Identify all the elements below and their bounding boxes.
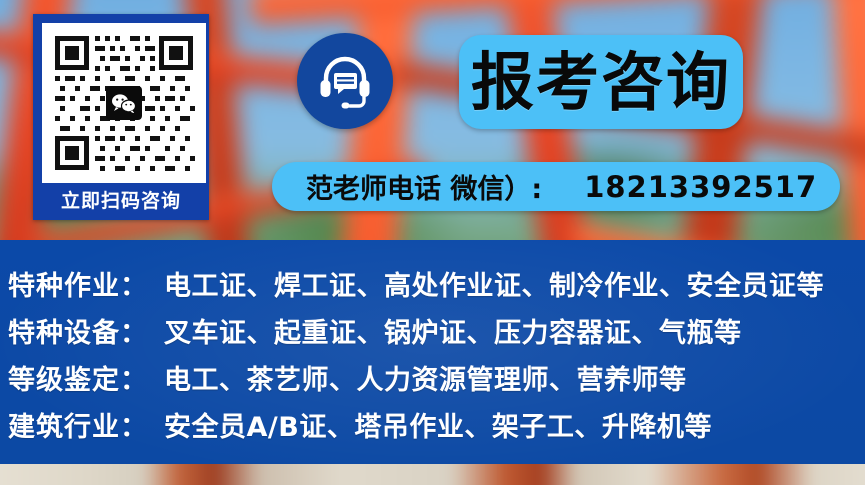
title-badge: 报考咨询: [459, 35, 743, 129]
contact-badge[interactable]: 范老师电话 微信）: 18213392517: [272, 162, 840, 211]
bottom-photo-strip-layer: [0, 464, 865, 485]
service-row-label: 建筑行业：: [8, 405, 148, 444]
service-row-label: 特种作业：: [8, 264, 148, 303]
service-row-label: 特种设备：: [8, 311, 148, 350]
service-row-special-equipment: 特种设备： 叉车证、起重证、锅炉证、压力容器证、气瓶等: [8, 311, 857, 350]
service-row-construction-industry: 建筑行业： 安全员A/B证、塔吊作业、架子工、升降机等: [8, 405, 857, 444]
headset-support-icon: [297, 33, 393, 129]
contact-phone-number[interactable]: 18213392517: [584, 170, 817, 204]
services-panel: 特种作业： 电工证、焊工证、高处作业证、制冷作业、安全员证等 特种设备： 叉车证…: [0, 240, 865, 464]
service-row-items: 叉车证、起重证、锅炉证、压力容器证、气瓶等: [164, 311, 742, 350]
headset-glyph: [314, 50, 376, 112]
wechat-glyph: [111, 93, 137, 113]
service-row-grade-certification: 等级鉴定： 电工、茶艺师、人力资源管理师、营养师等: [8, 358, 857, 397]
service-row-items: 电工证、焊工证、高处作业证、制冷作业、安全员证等: [164, 264, 824, 303]
service-row-label: 等级鉴定：: [8, 358, 148, 397]
service-row-items: 电工、茶艺师、人力资源管理师、营养师等: [164, 358, 687, 397]
page-title: 报考咨询: [471, 51, 731, 114]
contact-label: 范老师电话 微信）:: [306, 167, 542, 206]
service-row-items: 安全员A/B证、塔吊作业、架子工、升降机等: [164, 405, 712, 444]
service-row-special-operations: 特种作业： 电工证、焊工证、高处作业证、制冷作业、安全员证等: [8, 264, 857, 303]
bottom-photo-strip: [0, 464, 865, 485]
wechat-icon: [106, 86, 142, 120]
qr-code-frame: [42, 23, 206, 183]
qr-code-image: [49, 30, 199, 176]
qr-code-card[interactable]: 立即扫码咨询: [33, 14, 209, 220]
qr-card-caption: 立即扫码咨询: [36, 186, 206, 213]
promo-poster: 立即扫码咨询 报考咨询 范老师电话 微信）: 18213392517 特种作业：…: [0, 0, 865, 485]
